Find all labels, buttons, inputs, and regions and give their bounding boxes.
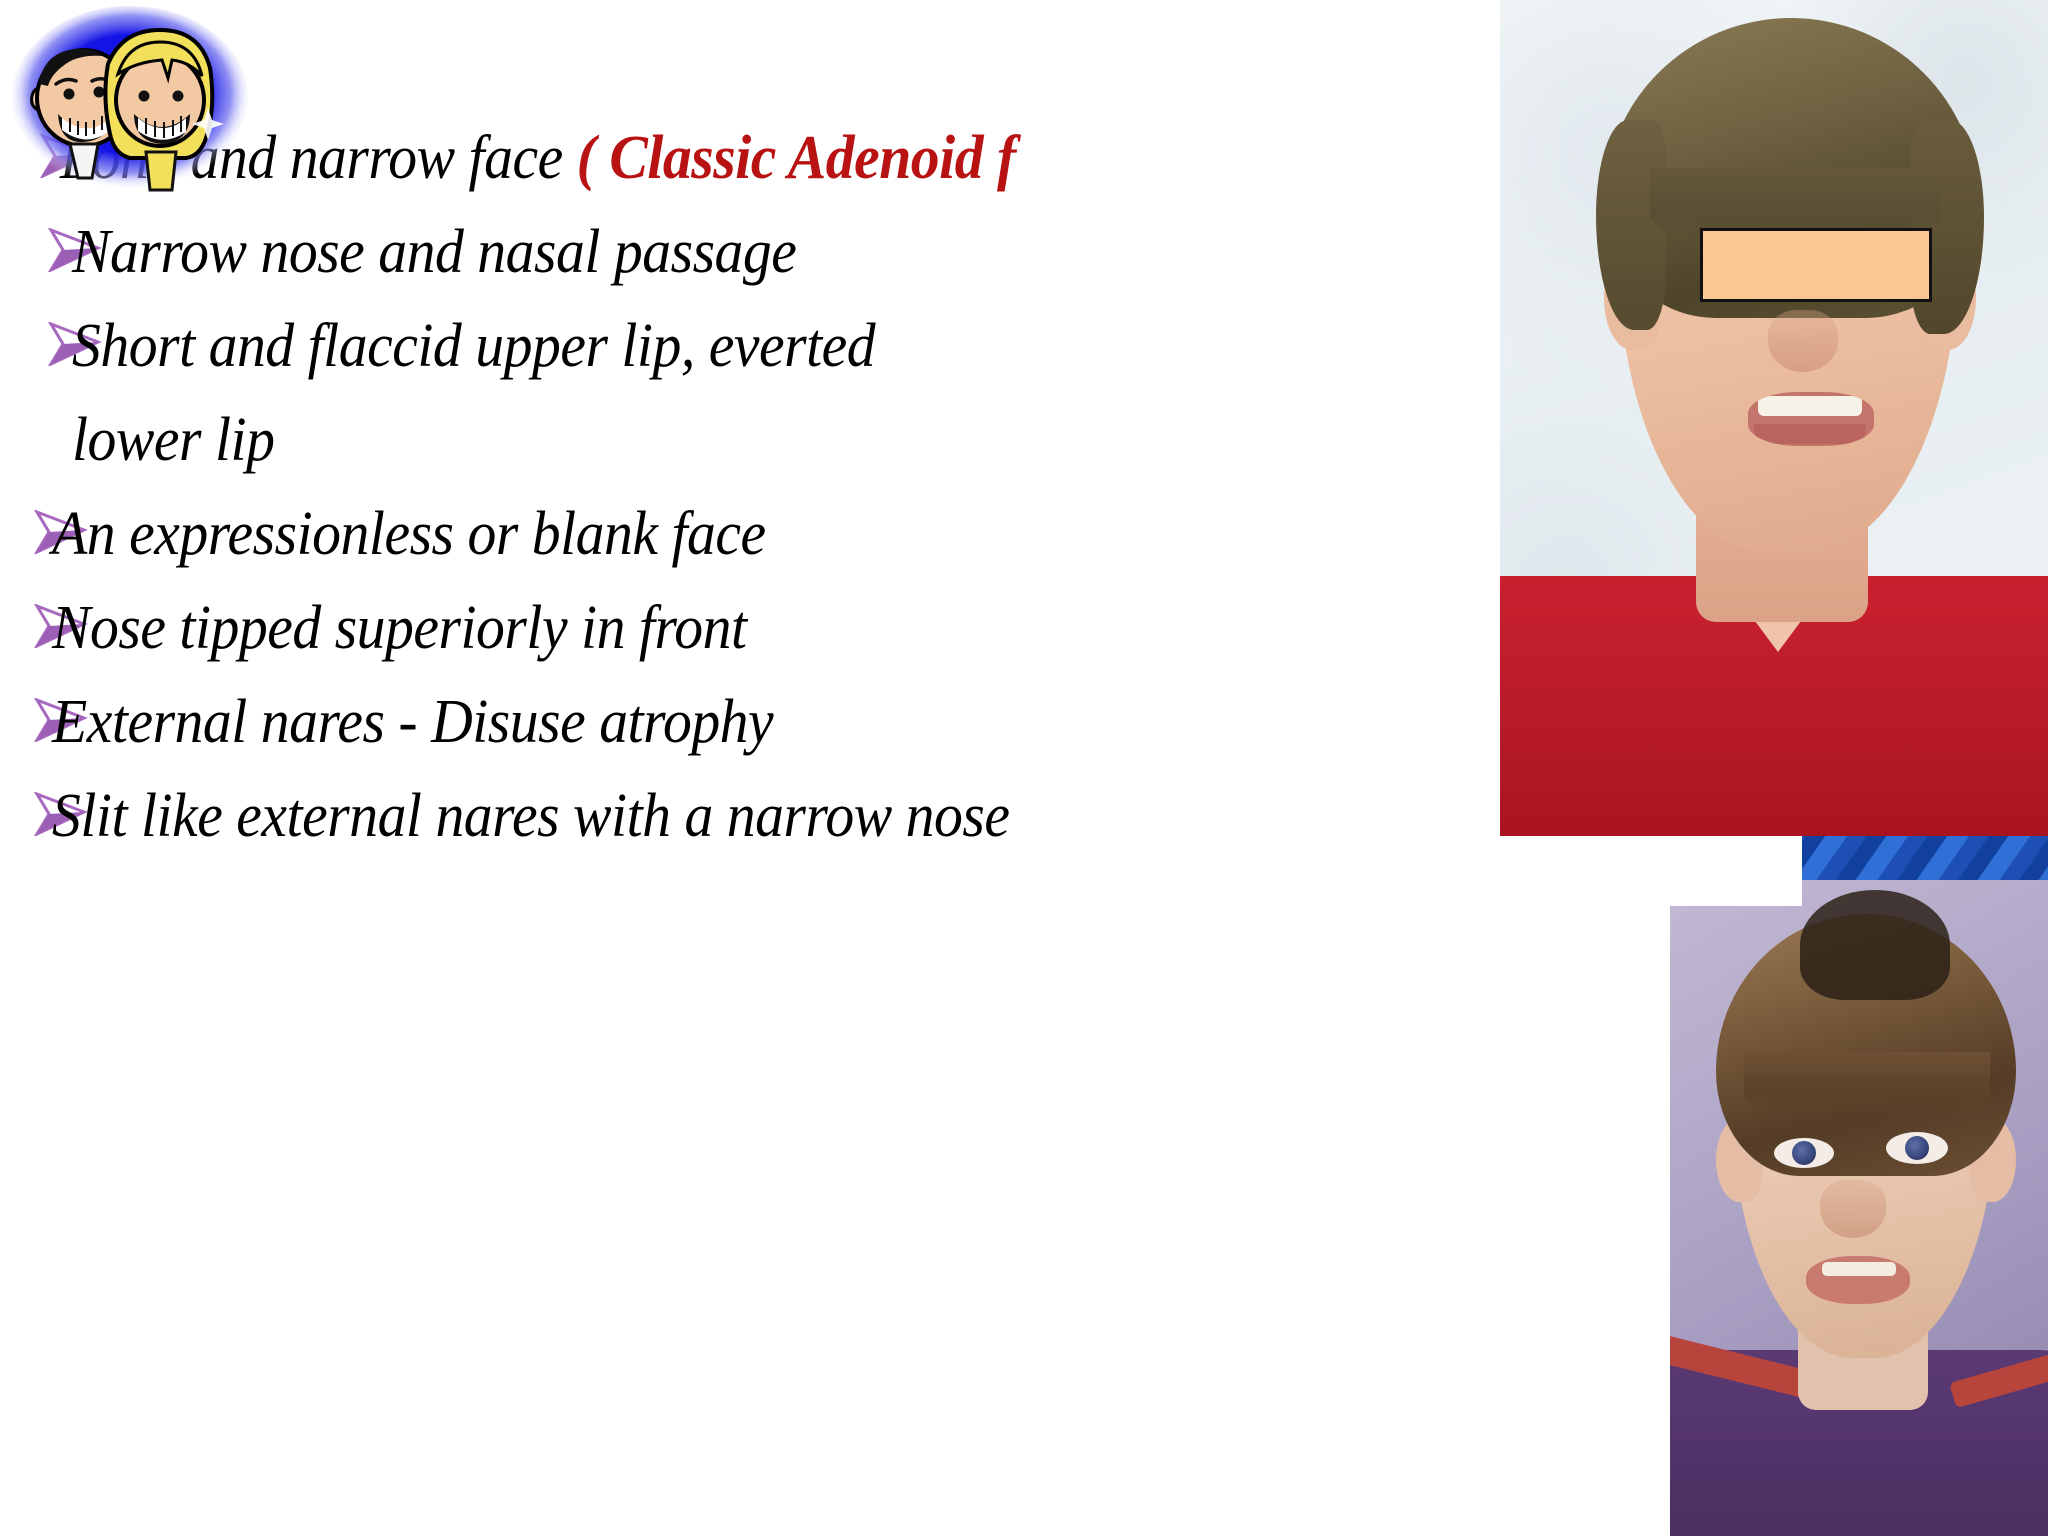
hair-dark-top — [1800, 890, 1950, 1000]
list-item: An expressionless or blank face — [0, 488, 1560, 582]
arrowhead-bullet-icon — [0, 676, 52, 742]
list-item-text: Nose tipped superiorly in front — [52, 582, 1454, 674]
list-item-text: Slit like external nares with a narrow n… — [52, 770, 1454, 862]
list-item-text: An expressionless or blank face — [52, 488, 1454, 580]
list-item-text: External nares - Disuse atrophy — [52, 676, 1454, 768]
list-item: Narrow nose and nasal passage — [0, 206, 1560, 300]
upper-teeth — [1822, 1262, 1896, 1276]
nose — [1820, 1180, 1886, 1238]
arrowhead-bullet-icon — [0, 582, 52, 648]
two-smiling-children-clipart-icon — [8, 2, 278, 202]
white-gap-block — [1500, 836, 1802, 906]
arrowhead-bullet-icon — [0, 300, 72, 366]
list-item: External nares - Disuse atrophy — [0, 676, 1560, 770]
hair-fringe — [1744, 1052, 1990, 1124]
nose — [1768, 310, 1838, 372]
list-item-continuation: lower lip — [0, 394, 1560, 488]
bullet-list: Long and narrow face ( Classic Adenoid f… — [0, 112, 1560, 864]
open-mouth — [1748, 392, 1874, 446]
list-item-accent: ( Classic Adenoid f — [577, 124, 1016, 192]
left-eye — [1774, 1138, 1834, 1168]
slide-canvas: Long and narrow face ( Classic Adenoid f… — [0, 0, 2048, 1536]
lower-lip — [1754, 424, 1866, 444]
list-item: Short and flaccid upper lip, everted — [0, 300, 1560, 394]
arrowhead-bullet-icon — [0, 488, 52, 554]
eye-censor-bar — [1700, 228, 1932, 302]
list-item-continuation-text: lower lip — [72, 394, 1456, 486]
list-item-text: Narrow nose and nasal passage — [72, 206, 1456, 298]
right-eye — [1886, 1132, 1948, 1164]
list-item-text: Short and flaccid upper lip, everted — [72, 300, 1456, 392]
upper-teeth — [1758, 396, 1862, 416]
left-iris — [1792, 1141, 1816, 1165]
arrowhead-bullet-icon — [0, 206, 72, 272]
arrowhead-bullet-icon — [0, 770, 52, 836]
child-adenoid-facies-photo — [1670, 880, 2048, 1536]
boy-adenoid-facies-photo — [1500, 0, 2048, 836]
list-item: Nose tipped superiorly in front — [0, 582, 1560, 676]
right-iris — [1905, 1136, 1929, 1160]
open-mouth — [1806, 1256, 1910, 1304]
list-item: Slit like external nares with a narrow n… — [0, 770, 1560, 864]
